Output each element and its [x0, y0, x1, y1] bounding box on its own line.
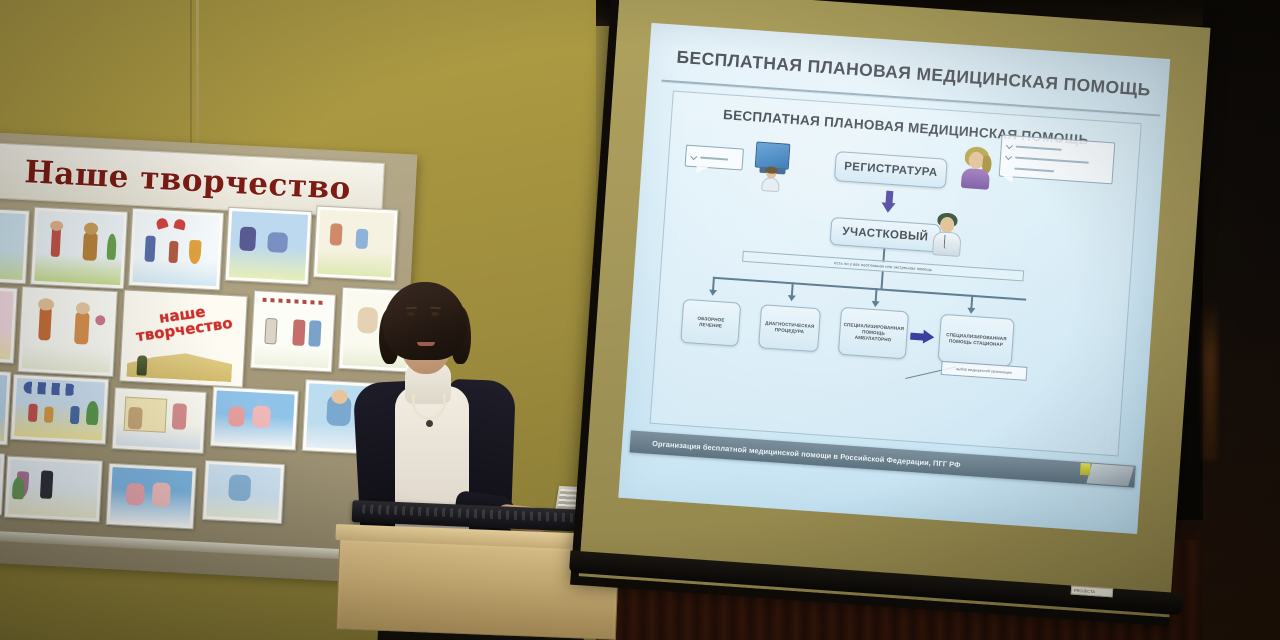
arrowhead-4: [967, 308, 975, 315]
presentation-slide: БЕСПЛАТНАЯ ПЛАНОВАЯ МЕДИЦИНСКАЯ ПОМОЩЬ Б…: [618, 23, 1170, 534]
drawing-item: [250, 290, 336, 372]
connector-drop-4: [970, 295, 972, 309]
bubble-right-tail: [1000, 175, 1012, 183]
drawing-item: [30, 207, 128, 290]
drawing-item: [0, 285, 18, 364]
bubble-right: [999, 135, 1116, 185]
arrowhead-3: [871, 301, 879, 308]
drawing-item: [202, 460, 285, 524]
mouth: [417, 342, 435, 346]
node-leaf-diagnostics: ДИАГНОСТИЧЕСКАЯ ПРОЦЕДУРА: [758, 304, 821, 352]
board-banner-label: Наше творчество: [24, 154, 352, 207]
presentation-room-photo: Наше творчество: [0, 0, 1280, 640]
screen-brand-text: PROJECTA: [1072, 587, 1112, 597]
hair-top: [383, 282, 467, 360]
node-leaf-specialized-inpatient: СПЕЦИАЛИЗИРОВАННАЯ ПОМОЩЬ СТАЦИОНАР: [938, 314, 1015, 367]
eye-right: [431, 312, 439, 316]
slide-footer-logo: [1086, 464, 1134, 487]
arrowhead-1: [709, 290, 717, 297]
projection-screen: БЕСПЛАТНАЯ ПЛАНОВАЯ МЕДИЦИНСКАЯ ПОМОЩЬ Б…: [570, 0, 1210, 626]
connector-band-stem: [880, 272, 883, 290]
drawings-grid: наше творчество: [0, 204, 410, 556]
arrow-registry-to-doctor: [881, 190, 897, 213]
connector-drop-1: [712, 277, 714, 291]
arrow-outpatient-to-inpatient: [910, 329, 935, 345]
drawing-item: [17, 286, 117, 377]
drawing-item: [313, 205, 399, 281]
eye-left: [407, 312, 415, 316]
connector-horizontal-bus: [713, 277, 1026, 300]
handmade-poster: наше творчество: [119, 289, 248, 387]
handmade-poster-label: наше творчество: [126, 300, 241, 345]
drawing-item: [225, 207, 313, 285]
connector-drop-3: [875, 288, 877, 302]
connector-drop-2: [791, 282, 793, 296]
drawing-item: [0, 207, 30, 284]
necklace-pendant: [426, 420, 433, 427]
drawing-item: [210, 386, 299, 450]
drawing-item: [112, 387, 207, 454]
room-wall-far-right: [1203, 0, 1280, 640]
node-leaf-treatment: ОБЗОРНОЕ ЛЕЧЕНИЕ: [680, 299, 741, 347]
drawing-item: [10, 374, 109, 445]
bubble-left-tail: [696, 166, 708, 174]
drawing-item: [106, 463, 197, 530]
node-leaf-specialized-outpatient: СПЕЦИАЛИЗИРОВАННАЯ ПОМОЩЬ АМБУЛАТОРНО: [838, 307, 909, 360]
drawing-item: [128, 208, 224, 291]
node-district-doctor: УЧАСТКОВЫЙ: [829, 217, 941, 253]
bubble-left: [685, 145, 744, 171]
slide-diagram-panel: БЕСПЛАТНАЯ ПЛАНОВАЯ МЕДИЦИНСКАЯ ПОМОЩЬ з…: [650, 90, 1142, 456]
drawing-item: [4, 456, 103, 523]
arrowhead-2: [787, 295, 795, 302]
slide-title: БЕСПЛАТНАЯ ПЛАНОВАЯ МЕДИЦИНСКАЯ ПОМОЩЬ: [670, 46, 1156, 101]
node-registry: РЕГИСТРАТУРА: [834, 151, 948, 189]
callout-choose-clinic: выбор медицинской организации: [941, 361, 1028, 381]
monitor-icon: [755, 141, 791, 169]
